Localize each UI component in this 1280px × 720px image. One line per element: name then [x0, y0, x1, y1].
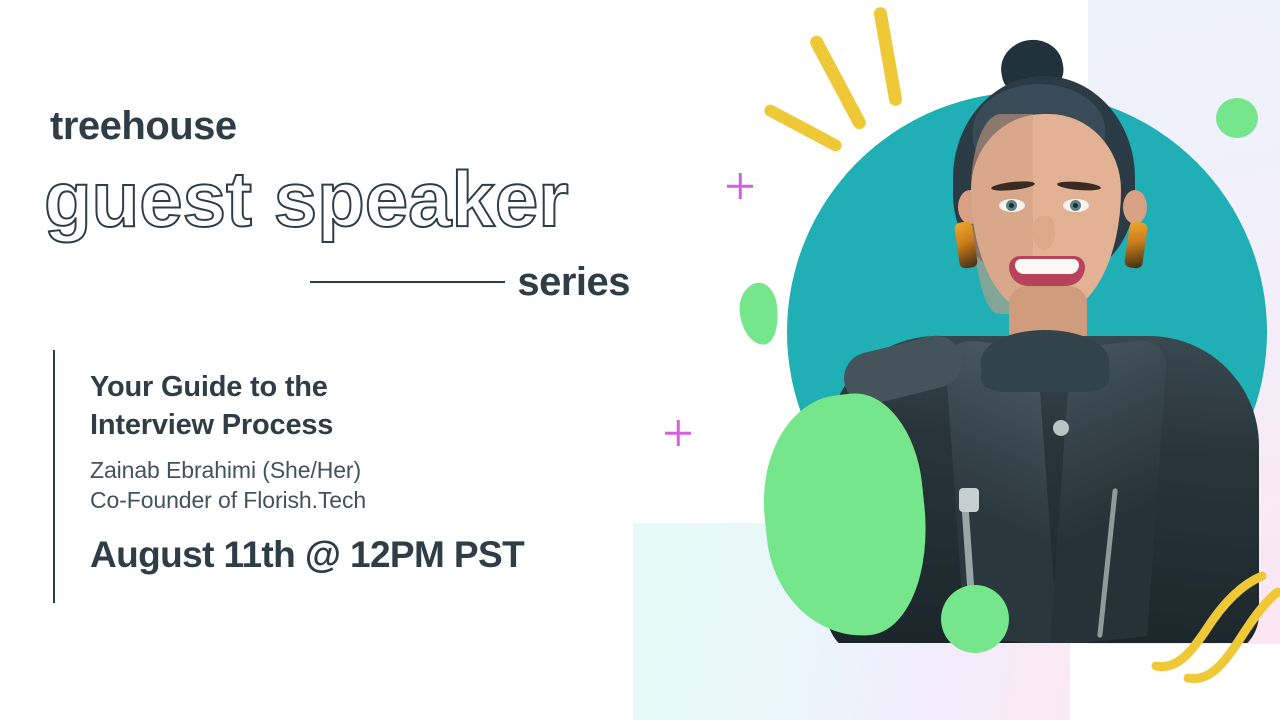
- jacket-snap-icon: [1053, 420, 1069, 436]
- page-title: guest speaker: [44, 160, 569, 238]
- nose-icon: [1033, 216, 1055, 250]
- event-details: Your Guide to the Interview Process Zain…: [90, 368, 630, 576]
- iris-left-icon: [1006, 200, 1017, 211]
- jacket-collar-icon: [981, 330, 1109, 392]
- green-bean-small-icon: [736, 281, 782, 348]
- eye-right-icon: [1063, 199, 1089, 212]
- teeth-icon: [1015, 259, 1079, 274]
- series-row: series: [310, 258, 630, 306]
- promo-slide: treehouse guest speaker series Your Guid…: [0, 0, 1280, 720]
- zipper-pull-icon: [959, 488, 979, 512]
- detail-vertical-rule: [53, 350, 55, 603]
- text-column: treehouse guest speaker series Your Guid…: [0, 0, 660, 720]
- mouth-icon: [1009, 256, 1085, 286]
- plus-mark-icon: [665, 420, 691, 446]
- talk-title-line-2: Interview Process: [90, 409, 333, 441]
- plus-mark-icon: [727, 173, 753, 199]
- speaker-name: Zainab Ebrahimi (She/Her): [90, 455, 630, 486]
- series-divider: [310, 281, 505, 283]
- talk-title-line-1: Your Guide to the: [90, 371, 328, 403]
- series-label: series: [517, 262, 630, 302]
- event-datetime: August 11th @ 12PM PST: [90, 535, 630, 576]
- green-circle-icon: [941, 585, 1009, 653]
- eye-left-icon: [999, 199, 1025, 212]
- iris-right-icon: [1070, 200, 1081, 211]
- speaker-role: Co-Founder of Florish.Tech: [90, 485, 630, 516]
- yellow-squiggle-icon: [1150, 570, 1280, 720]
- talk-title: Your Guide to the Interview Process: [90, 368, 630, 445]
- ear-right-icon: [1123, 190, 1147, 224]
- treehouse-wordmark: treehouse: [50, 106, 237, 146]
